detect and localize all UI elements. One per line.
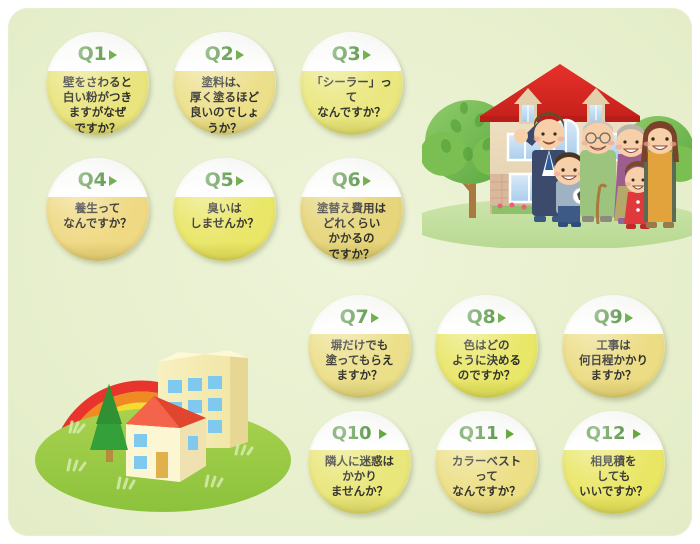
faq-header-q9: Q9 [562, 295, 665, 334]
faq-question-text: カラーベスト って なんですか？ [446, 454, 527, 500]
triangle-right-icon [236, 50, 244, 60]
faq-question-text: 隣人に迷惑は かかり ませんか？ [319, 454, 400, 500]
faq-header-q1: Q1 [46, 32, 149, 71]
faq-label-q7: Q7 [340, 308, 380, 327]
faq-body-q5: 臭いは しませんか？ [173, 197, 276, 261]
triangle-right-icon [371, 313, 379, 323]
faq-label-q11: Q11 [459, 425, 514, 443]
faq-header-q4: Q4 [46, 158, 149, 197]
page-root: Q1壁をさわると 白い粉がつき ますがなぜ ですか？Q2塗料は、 厚く塗るほど … [0, 0, 700, 544]
faq-circle-q2[interactable]: Q2塗料は、 厚く塗るほど 良いのでしょ うか？ [173, 32, 276, 135]
faq-label-q6: Q6 [332, 171, 372, 190]
person-grandfather [580, 120, 616, 224]
faq-circle-q1[interactable]: Q1壁をさわると 白い粉がつき ますがなぜ ですか？ [46, 32, 149, 135]
faq-label-text: Q1 [78, 45, 107, 64]
faq-question-text: 工事は 何日程かかり ますか？ [573, 338, 654, 384]
faq-header-q7: Q7 [308, 295, 411, 334]
faq-header-q8: Q8 [435, 295, 538, 334]
faq-header-q12: Q12 [562, 411, 665, 450]
triangle-right-icon [498, 313, 506, 323]
faq-label-text: Q10 [332, 425, 371, 443]
triangle-right-icon [109, 50, 117, 60]
faq-header-q3: Q3 [300, 32, 403, 71]
faq-question-text: 壁をさわると 白い粉がつき ますがなぜ ですか？ [57, 75, 138, 135]
faq-circle-q4[interactable]: Q4養生って なんですか？ [46, 158, 149, 261]
faq-body-q8: 色はどの ように決める のですか？ [435, 334, 538, 398]
faq-header-q2: Q2 [173, 32, 276, 71]
faq-label-text: Q11 [459, 425, 498, 443]
faq-body-q9: 工事は 何日程かかり ますか？ [562, 334, 665, 398]
faq-circle-q12[interactable]: Q12相見積を しても いいですか？ [562, 411, 665, 514]
faq-question-text: 「シーラー」って なんですか？ [300, 75, 403, 121]
person-mother [641, 121, 679, 228]
faq-body-q7: 塀だけでも 塗ってもらえ ますか？ [308, 334, 411, 398]
faq-question-text: 養生って なんですか？ [57, 201, 137, 231]
faq-label-q9: Q9 [594, 308, 634, 327]
faq-body-q3: 「シーラー」って なんですか？ [300, 71, 403, 135]
faq-question-text: 臭いは しませんか？ [184, 201, 265, 231]
faq-circle-q10[interactable]: Q10隣人に迷惑は かかり ませんか？ [308, 411, 411, 514]
faq-label-text: Q7 [340, 308, 369, 327]
faq-label-q1: Q1 [78, 45, 118, 64]
faq-label-q10: Q10 [332, 425, 387, 443]
faq-body-q4: 養生って なんですか？ [46, 197, 149, 261]
faq-label-q3: Q3 [332, 45, 372, 64]
faq-question-text: 塗替え費用は どれくらい かかるの ですか？ [311, 201, 392, 261]
triangle-right-icon [236, 176, 244, 186]
faq-circle-q9[interactable]: Q9工事は 何日程かかり ますか？ [562, 295, 665, 398]
faq-header-q6: Q6 [300, 158, 403, 197]
faq-label-text: Q2 [205, 45, 234, 64]
triangle-right-icon [363, 176, 371, 186]
faq-body-q12: 相見積を しても いいですか？ [562, 450, 665, 514]
faq-question-text: 塀だけでも 塗ってもらえ ますか？ [320, 338, 400, 384]
faq-body-q11: カラーベスト って なんですか？ [435, 450, 538, 514]
triangle-right-icon [109, 176, 117, 186]
faq-body-q6: 塗替え費用は どれくらい かかるの ですか？ [300, 197, 403, 261]
rainbow-town-illustration [30, 300, 296, 516]
triangle-right-icon [363, 50, 371, 60]
faq-label-q8: Q8 [467, 308, 507, 327]
faq-circle-q5[interactable]: Q5臭いは しませんか？ [173, 158, 276, 261]
faq-panel: Q1壁をさわると 白い粉がつき ますがなぜ ですか？Q2塗料は、 厚く塗るほど … [8, 8, 692, 536]
faq-label-q5: Q5 [205, 171, 245, 190]
faq-label-text: Q3 [332, 45, 361, 64]
faq-circle-q6[interactable]: Q6塗替え費用は どれくらい かかるの ですか？ [300, 158, 403, 261]
faq-circle-q11[interactable]: Q11カラーベスト って なんですか？ [435, 411, 538, 514]
faq-body-q1: 壁をさわると 白い粉がつき ますがなぜ ですか？ [46, 71, 149, 135]
faq-body-q10: 隣人に迷惑は かかり ませんか？ [308, 450, 411, 514]
faq-question-text: 色はどの ように決める のですか？ [446, 338, 527, 384]
faq-circle-q3[interactable]: Q3「シーラー」って なんですか？ [300, 32, 403, 135]
faq-label-q12: Q12 [586, 425, 641, 443]
faq-label-q4: Q4 [78, 171, 118, 190]
triangle-right-icon [633, 429, 641, 439]
faq-header-q5: Q5 [173, 158, 276, 197]
triangle-right-icon [506, 429, 514, 439]
faq-circle-q8[interactable]: Q8色はどの ように決める のですか？ [435, 295, 538, 398]
faq-header-q10: Q10 [308, 411, 411, 450]
faq-label-text: Q6 [332, 171, 361, 190]
faq-label-text: Q8 [467, 308, 496, 327]
faq-label-text: Q5 [205, 171, 234, 190]
triangle-right-icon [379, 429, 387, 439]
house-with-family-illustration [422, 46, 692, 248]
faq-body-q2: 塗料は、 厚く塗るほど 良いのでしょ うか？ [173, 71, 276, 135]
faq-circle-q7[interactable]: Q7塀だけでも 塗ってもらえ ますか？ [308, 295, 411, 398]
faq-label-q2: Q2 [205, 45, 245, 64]
faq-label-text: Q9 [594, 308, 623, 327]
faq-question-text: 塗料は、 厚く塗るほど 良いのでしょ うか？ [184, 75, 265, 135]
faq-question-text: 相見積を しても いいですか？ [573, 454, 654, 500]
triangle-right-icon [625, 313, 633, 323]
faq-header-q11: Q11 [435, 411, 538, 450]
faq-label-text: Q12 [586, 425, 625, 443]
faq-label-text: Q4 [78, 171, 107, 190]
